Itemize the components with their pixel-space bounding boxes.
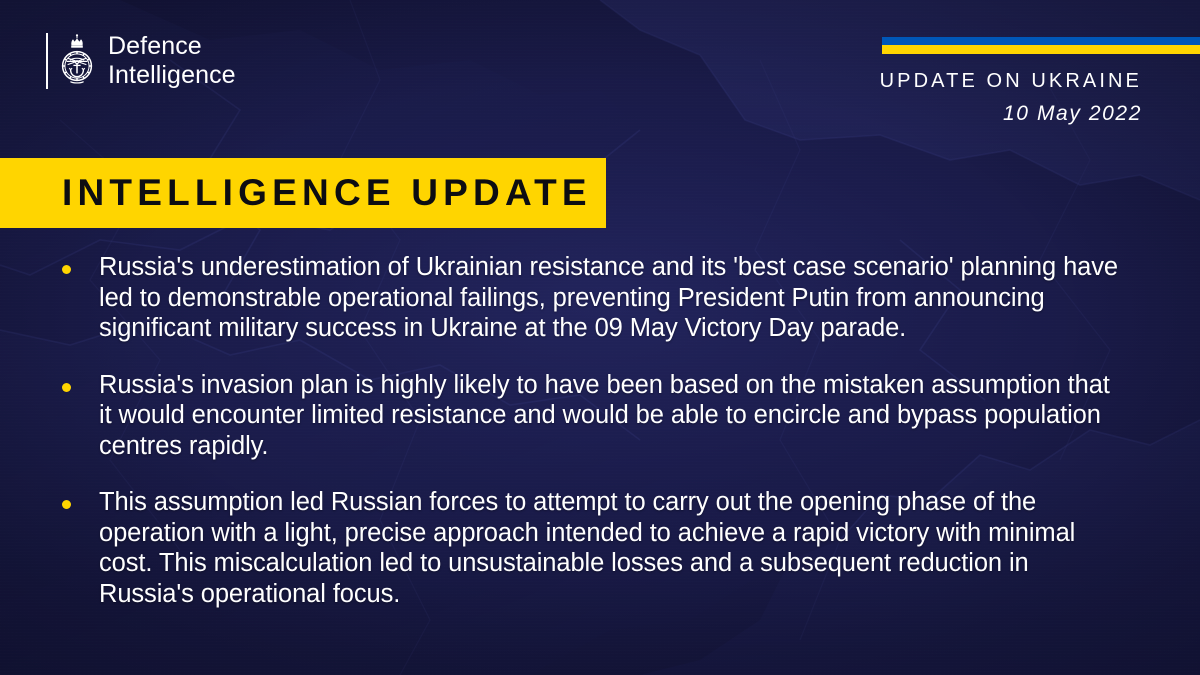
defence-intelligence-logo: Defence Intelligence (46, 32, 236, 89)
ukraine-flag-bar (882, 37, 1200, 54)
bullet-dot-icon (62, 265, 71, 274)
bullet-text: Russia's invasion plan is highly likely … (99, 370, 1122, 462)
update-date: 10 May 2022 (880, 102, 1142, 126)
intelligence-update-banner: INTELLIGENCE UPDATE (0, 158, 606, 228)
banner-label: INTELLIGENCE UPDATE (62, 172, 592, 214)
bullet-text: This assumption led Russian forces to at… (99, 487, 1122, 609)
update-title: UPDATE ON UKRAINE (880, 70, 1142, 93)
list-item: Russia's underestimation of Ukrainian re… (62, 252, 1122, 344)
logo-line-intelligence: Intelligence (108, 61, 236, 90)
logo-line-defence: Defence (108, 32, 236, 61)
bullet-dot-icon (62, 500, 71, 509)
bullet-dot-icon (62, 383, 71, 392)
header-right-block: UPDATE ON UKRAINE 10 May 2022 (880, 70, 1142, 126)
intelligence-update-poster: Defence Intelligence UPDATE ON UKRAINE 1… (0, 0, 1200, 675)
defence-intelligence-crest-icon (60, 33, 94, 89)
flag-yellow-band (882, 45, 1200, 54)
list-item: Russia's invasion plan is highly likely … (62, 370, 1122, 462)
bullet-text: Russia's underestimation of Ukrainian re… (99, 252, 1122, 344)
bullet-list: Russia's underestimation of Ukrainian re… (62, 252, 1122, 609)
logo-wordmark: Defence Intelligence (108, 32, 236, 89)
flag-blue-band (882, 37, 1200, 45)
logo-divider-rule (46, 33, 48, 89)
list-item: This assumption led Russian forces to at… (62, 487, 1122, 609)
